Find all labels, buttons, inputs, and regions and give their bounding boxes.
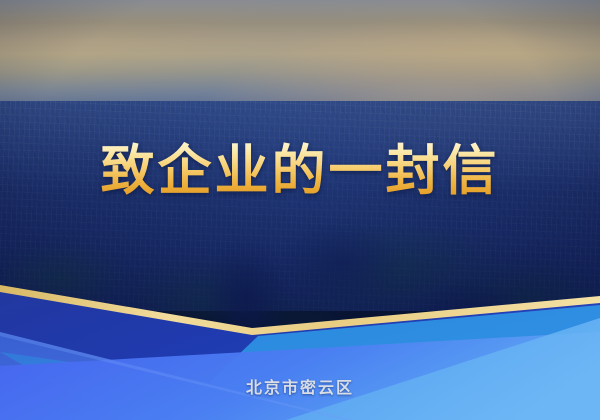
footer-caption-block: 北京市密云区 <box>0 374 600 398</box>
organization-caption: 北京市密云区 <box>246 374 354 398</box>
page-title: 致企业的一封信 <box>101 142 500 199</box>
background-photo-aerial-cityscape <box>0 0 600 420</box>
vignette-overlay <box>0 0 600 420</box>
poster-canvas: 致企业的一封信 <box>0 0 600 420</box>
title-block: 致企业的一封信 <box>0 142 600 199</box>
